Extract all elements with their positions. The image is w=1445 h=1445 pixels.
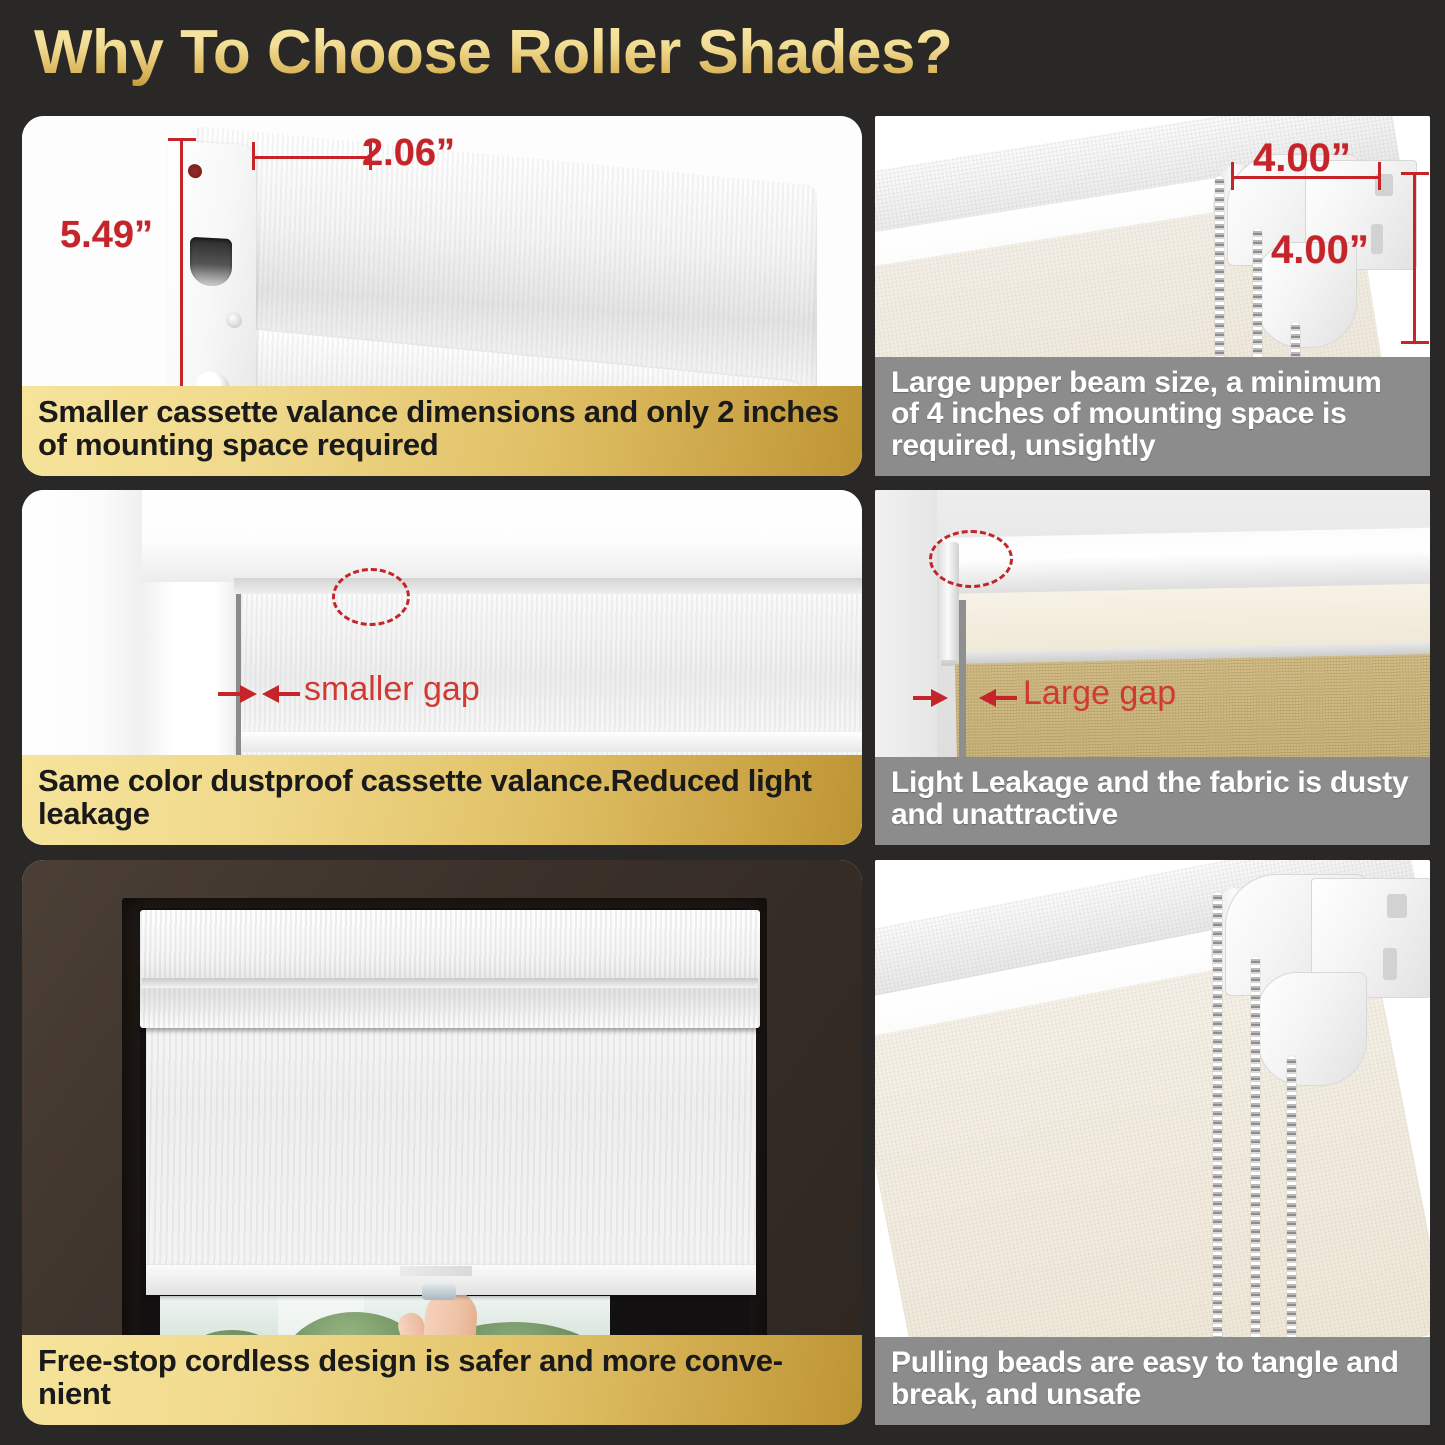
shade-handle bbox=[422, 1284, 456, 1300]
bead-chain bbox=[1213, 892, 1222, 1344]
panel-light-leakage[interactable]: Large gap Light Leakage and the fabric i… bbox=[875, 490, 1430, 845]
gap-arrow-left bbox=[931, 689, 948, 707]
panel-cassette-valance-dimensions[interactable]: 2.06” 5.49” Smaller cassette valance dim… bbox=[22, 116, 862, 476]
dim-line-beam-depth bbox=[1413, 172, 1416, 344]
panel-caption-pro-2: Same color dustproof cassette valance.Re… bbox=[22, 755, 862, 845]
dimension-label-beam-width: 4.00” bbox=[1253, 136, 1351, 181]
panel-large-upper-beam[interactable]: 4.00” 4.00” Large upper beam size, a min… bbox=[875, 116, 1430, 476]
gap-arrow-right bbox=[979, 689, 996, 707]
panel-free-stop-cordless[interactable]: Free-stop cordless design is safer and m… bbox=[22, 860, 862, 1425]
panel-dustproof-cassette-valance[interactable]: smaller gap Same color dustproof cassett… bbox=[22, 490, 862, 845]
panel-caption-con-2: Light Leakage and the fabric is dusty an… bbox=[875, 757, 1430, 845]
gap-arrow-right bbox=[262, 685, 279, 703]
panel-caption-con-3: Pulling beads are easy to tangle and bre… bbox=[875, 1337, 1430, 1425]
gap-callout-label: smaller gap bbox=[304, 670, 480, 709]
panel-caption-con-1: Large upper beam size, a minimum of 4 in… bbox=[875, 357, 1430, 476]
gap-callout-label: Large gap bbox=[1023, 674, 1176, 713]
dimension-label-height: 5.49” bbox=[60, 214, 153, 257]
panel-caption-pro-1: Smaller cassette valance dimensions and … bbox=[22, 386, 862, 476]
panel-pulling-beads[interactable]: Pulling beads are easy to tangle and bre… bbox=[875, 860, 1430, 1425]
dimension-label-beam-depth: 4.00” bbox=[1271, 228, 1369, 273]
page-title: Why To Choose Roller Shades? bbox=[34, 14, 1234, 92]
dim-line-width bbox=[252, 156, 372, 159]
panel-caption-pro-3: Free-stop cordless design is safer and m… bbox=[22, 1335, 862, 1425]
dimension-label-width: 2.06” bbox=[362, 132, 455, 175]
gap-arrow-left bbox=[240, 685, 257, 703]
highlight-circle bbox=[929, 530, 1013, 588]
cassette-valance bbox=[140, 910, 760, 1028]
highlight-circle bbox=[332, 568, 410, 626]
